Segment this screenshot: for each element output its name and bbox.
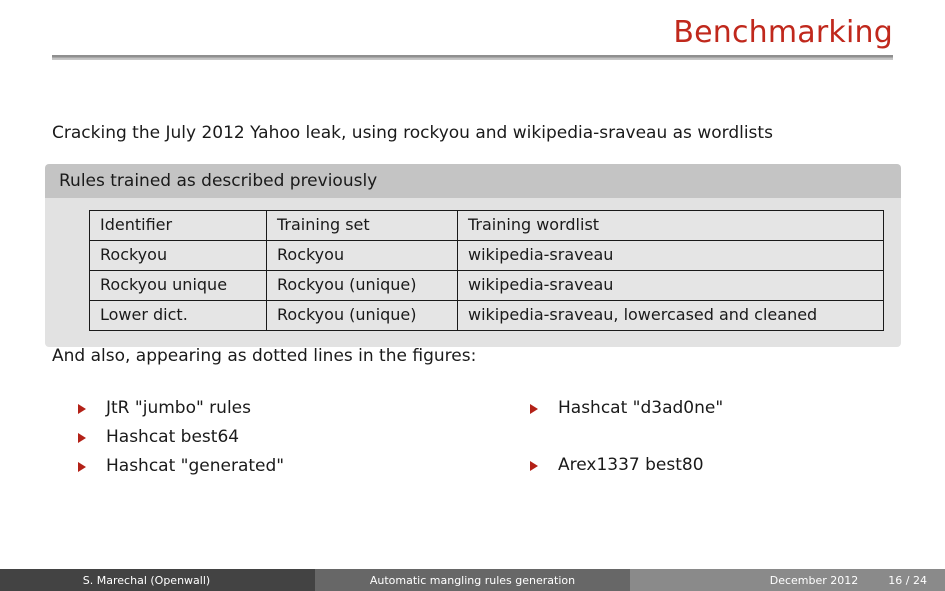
block-title: Rules trained as described previously: [45, 164, 901, 198]
block-body: Identifier Training set Training wordlis…: [45, 198, 901, 347]
table-row: Lower dict. Rockyou (unique) wikipedia-s…: [90, 301, 884, 331]
table-cell: wikipedia-sraveau, lowercased and cleane…: [458, 301, 884, 331]
footer-date: December 2012: [770, 574, 859, 587]
table-header-cell: Identifier: [90, 211, 267, 241]
list-item-label: Arex1337 best80: [558, 455, 704, 475]
bullet-column-left: JtR "jumbo" rules Hashcat best64 Hashcat…: [52, 394, 482, 481]
list-item: JtR "jumbo" rules: [78, 394, 482, 423]
table-cell: wikipedia-sraveau: [458, 241, 884, 271]
bullet-column-right: Hashcat "d3ad0ne" Arex1337 best80: [482, 394, 893, 481]
table-cell: Lower dict.: [90, 301, 267, 331]
footer-meta: December 2012 16 / 24: [630, 569, 945, 591]
list-item: Hashcat best64: [78, 423, 482, 452]
table-cell: Rockyou: [267, 241, 458, 271]
table-header-cell: Training wordlist: [458, 211, 884, 241]
list-item-label: Hashcat "d3ad0ne": [558, 398, 723, 418]
table-header-cell: Training set: [267, 211, 458, 241]
footer-page-number: 16 / 24: [888, 574, 927, 587]
intro-text: Cracking the July 2012 Yahoo leak, using…: [52, 122, 773, 144]
table-row: Rockyou unique Rockyou (unique) wikipedi…: [90, 271, 884, 301]
page-title: Benchmarking: [52, 14, 893, 52]
table-cell: Rockyou (unique): [267, 271, 458, 301]
list-item-label: Hashcat "generated": [106, 456, 284, 476]
footer-subject: Automatic mangling rules generation: [315, 569, 630, 591]
table-header-row: Identifier Training set Training wordlis…: [90, 211, 884, 241]
triangle-bullet-icon: [530, 461, 538, 471]
list-item-label: JtR "jumbo" rules: [106, 398, 251, 418]
bullet-list-left: JtR "jumbo" rules Hashcat best64 Hashcat…: [52, 394, 482, 481]
table-row: Rockyou Rockyou wikipedia-sraveau: [90, 241, 884, 271]
table-cell: wikipedia-sraveau: [458, 271, 884, 301]
triangle-bullet-icon: [78, 462, 86, 472]
footer-author: S. Marechal (Openwall): [0, 569, 315, 591]
triangle-bullet-icon: [78, 433, 86, 443]
triangle-bullet-icon: [78, 404, 86, 414]
list-item-label: Hashcat best64: [106, 427, 239, 447]
rules-block: Rules trained as described previously Id…: [45, 164, 901, 347]
bullet-list-right: Hashcat "d3ad0ne" Arex1337 best80: [504, 394, 893, 480]
table-cell: Rockyou unique: [90, 271, 267, 301]
list-item: Hashcat "generated": [78, 452, 482, 481]
table-cell: Rockyou: [90, 241, 267, 271]
title-divider: [52, 55, 893, 60]
secondary-text: And also, appearing as dotted lines in t…: [52, 345, 476, 367]
rules-table: Identifier Training set Training wordlis…: [89, 210, 884, 331]
triangle-bullet-icon: [530, 404, 538, 414]
list-item: Arex1337 best80: [530, 451, 893, 480]
table-cell: Rockyou (unique): [267, 301, 458, 331]
slide-footer: S. Marechal (Openwall) Automatic manglin…: [0, 569, 945, 591]
bullet-columns: JtR "jumbo" rules Hashcat best64 Hashcat…: [52, 394, 893, 481]
list-item: Hashcat "d3ad0ne": [530, 394, 893, 423]
